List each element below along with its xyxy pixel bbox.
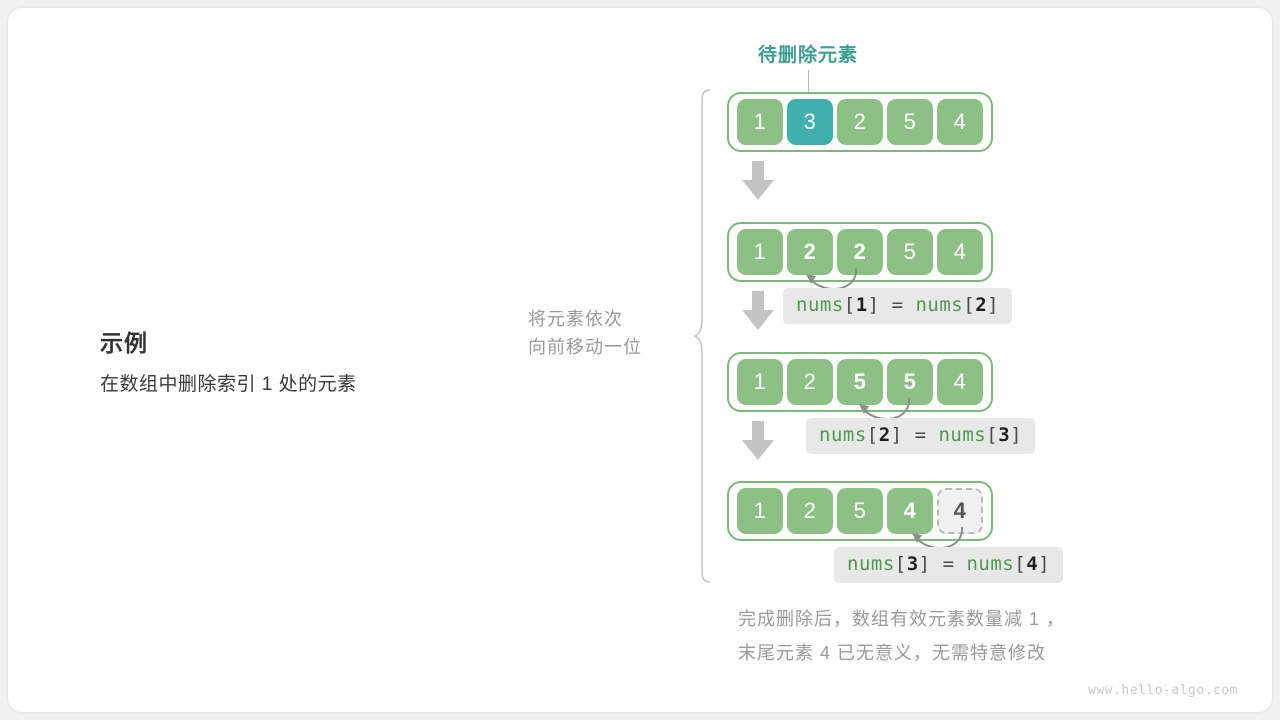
- assignment-label: nums[1] = nums[2]: [783, 288, 1012, 324]
- code-rhs-index: 3: [998, 424, 1010, 446]
- code-lhs-name: nums: [819, 424, 867, 446]
- array-cell[interactable]: 2: [837, 99, 883, 145]
- code-lhs-index: 1: [856, 294, 868, 316]
- delete-target-label: 待删除元素: [708, 40, 908, 67]
- array-row: 1 3 2 5 4: [727, 92, 993, 152]
- array-cell[interactable]: 3: [787, 99, 833, 145]
- assignment-label: nums[3] = nums[4]: [834, 547, 1063, 583]
- shift-annotation-line1: 将元素依次: [528, 306, 688, 334]
- array-cell[interactable]: 4: [937, 359, 983, 405]
- array-cell[interactable]: 1: [737, 229, 783, 275]
- result-caption-line2: 末尾元素 4 已无意义，无需特意修改: [738, 636, 1208, 670]
- code-rhs-name: nums: [938, 424, 986, 446]
- array-cell[interactable]: 4: [937, 99, 983, 145]
- code-rhs-name: nums: [915, 294, 963, 316]
- code-lhs-index: 2: [879, 424, 891, 446]
- array-cell[interactable]: 1: [737, 99, 783, 145]
- code-rhs-index: 2: [975, 294, 987, 316]
- down-arrow-icon: [741, 421, 775, 461]
- down-arrow-icon: [741, 291, 775, 331]
- watermark: www.hello-algo.com: [1088, 683, 1238, 698]
- array-cell[interactable]: 4: [937, 229, 983, 275]
- assignment-label: nums[2] = nums[3]: [806, 418, 1035, 454]
- shift-annotation: 将元素依次 向前移动一位: [528, 306, 688, 362]
- code-rhs-name: nums: [966, 553, 1014, 575]
- code-operator: =: [892, 294, 904, 316]
- code-rhs-index: 4: [1026, 553, 1038, 575]
- shift-annotation-line2: 向前移动一位: [528, 334, 688, 362]
- grouping-brace-icon: [694, 88, 714, 584]
- array-cell[interactable]: 2: [787, 359, 833, 405]
- description-block: 示例 在数组中删除索引 1 处的元素: [100, 330, 500, 397]
- array-cell[interactable]: 2: [787, 488, 833, 534]
- code-lhs-name: nums: [847, 553, 895, 575]
- code-lhs-name: nums: [796, 294, 844, 316]
- down-arrow-icon: [741, 161, 775, 201]
- array-cell[interactable]: 1: [737, 359, 783, 405]
- page-subtitle: 在数组中删除索引 1 处的元素: [100, 372, 500, 398]
- result-caption-line1: 完成删除后，数组有效元素数量减 1 ，: [738, 602, 1208, 636]
- code-operator: =: [915, 424, 927, 446]
- code-lhs-index: 3: [907, 553, 919, 575]
- page-title: 示例: [100, 330, 500, 358]
- result-caption: 完成删除后，数组有效元素数量减 1 ， 末尾元素 4 已无意义，无需特意修改: [738, 602, 1208, 670]
- code-operator: =: [943, 553, 955, 575]
- array-cell[interactable]: 5: [887, 99, 933, 145]
- array-cell[interactable]: 5: [837, 488, 883, 534]
- array-cell[interactable]: 1: [737, 488, 783, 534]
- diagram-card: 示例 在数组中删除索引 1 处的元素 将元素依次 向前移动一位 待删除元素 1 …: [8, 8, 1272, 712]
- array-cell[interactable]: 5: [887, 229, 933, 275]
